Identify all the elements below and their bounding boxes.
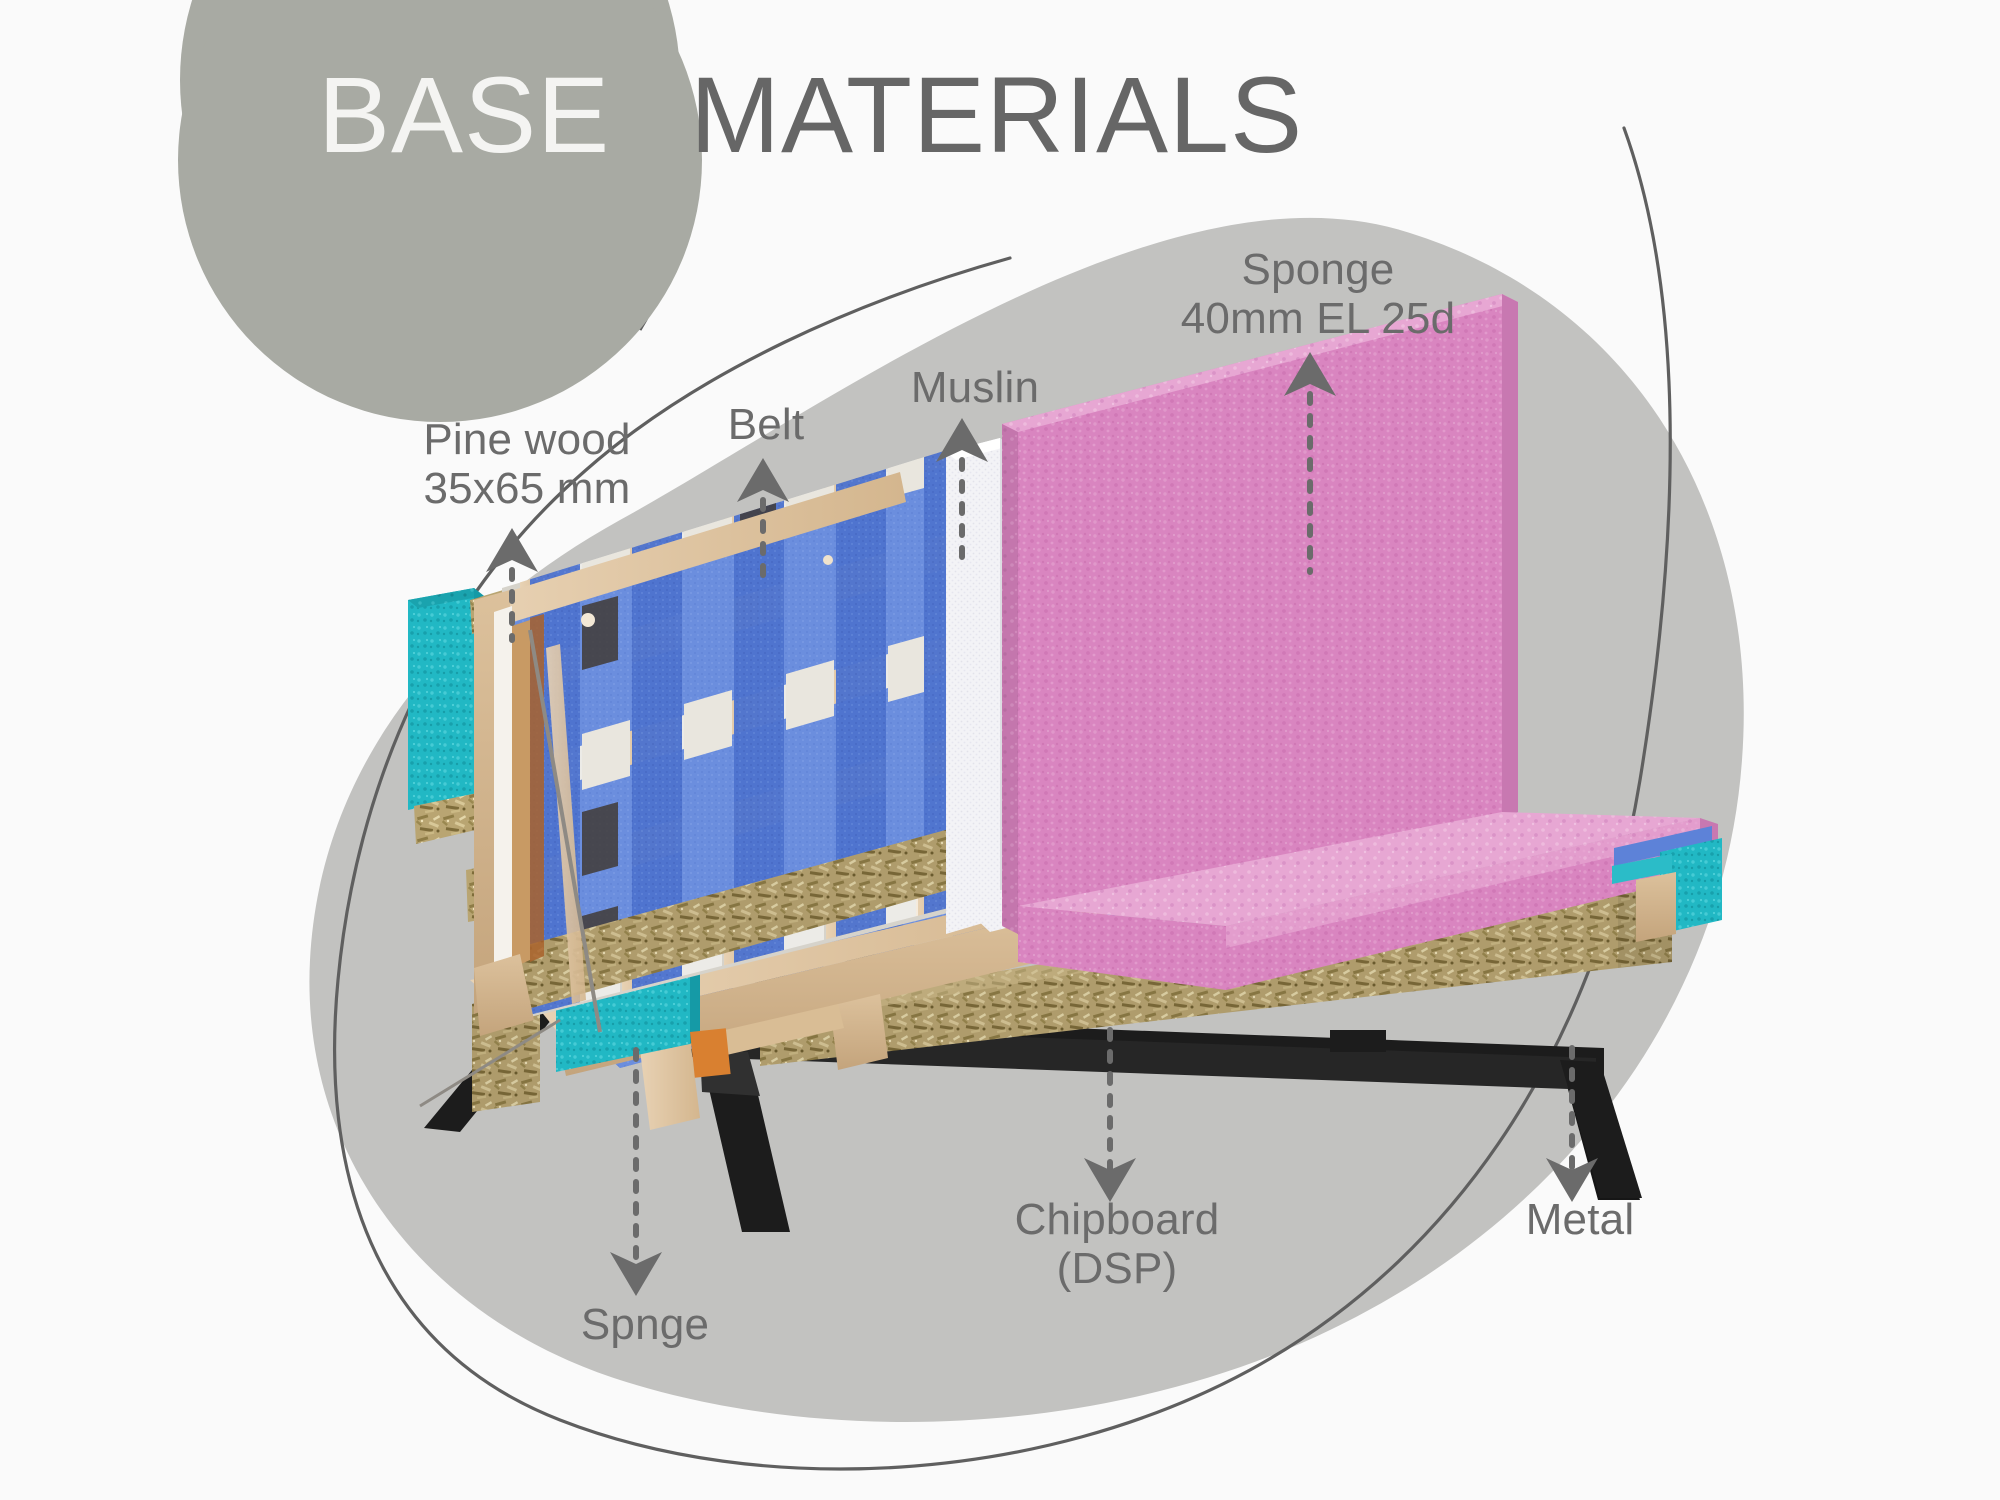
sponge-arm-upper xyxy=(408,588,474,810)
callout-label-belt: Belt xyxy=(728,400,805,449)
callout-label-sponge-bottom: Spnge xyxy=(581,1300,709,1349)
arrowhead-pine-wood xyxy=(486,528,538,572)
title-base-word: BASE xyxy=(318,52,610,177)
callout-label-sponge-top: Sponge 40mm EL 25d xyxy=(1181,245,1456,344)
title-materials-word: MATERIALS xyxy=(690,52,1303,177)
pine-block-right xyxy=(1636,872,1676,942)
callout-label-metal: Metal xyxy=(1526,1195,1635,1244)
callout-label-muslin: Muslin xyxy=(911,363,1039,412)
callout-label-chipboard: Chipboard (DSP) xyxy=(1015,1195,1220,1294)
infographic-canvas: BASE MATERIALS Pine wood 35x65 mm Belt M… xyxy=(0,0,2000,1500)
base-materials-diagram xyxy=(0,0,2000,1500)
callout-label-pine-wood: Pine wood 35x65 mm xyxy=(423,415,630,514)
